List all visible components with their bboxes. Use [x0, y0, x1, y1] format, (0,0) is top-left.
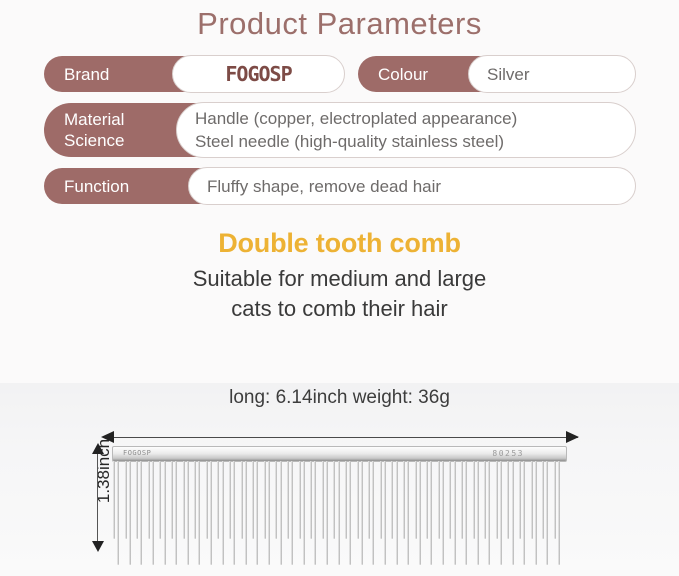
comb-tooth — [233, 461, 235, 565]
comb-tooth — [438, 461, 440, 539]
height-arrow-up-icon — [92, 443, 104, 454]
comb-tooth — [396, 461, 398, 565]
spec-row: Brand FOGOSP Colour Silver — [44, 56, 635, 92]
comb-tooth — [519, 461, 521, 539]
comb-tooth — [507, 461, 509, 539]
comb-brand-engraving: FOGOSP — [123, 449, 151, 457]
comb-product-image: FOGOSP 80253 — [112, 446, 567, 571]
spec-label-colour: Colour — [358, 56, 468, 92]
comb-tooth — [322, 461, 324, 539]
spec-pill-colour: Colour Silver — [358, 56, 635, 92]
comb-tooth — [117, 461, 119, 565]
comb-tooth — [357, 461, 359, 539]
comb-tooth — [241, 461, 243, 539]
comb-tooth — [310, 461, 312, 539]
comb-tooth — [542, 461, 544, 539]
comb-tooth — [535, 461, 537, 565]
comb-tooth — [175, 461, 177, 565]
product-photo: long: 6.14inch weight: 36g 1.38inch FOGO… — [0, 383, 679, 576]
spec-pill-brand: Brand FOGOSP — [44, 56, 344, 92]
comb-tooth — [500, 461, 502, 565]
comb-tooth — [140, 461, 142, 565]
comb-tooth — [280, 461, 282, 565]
comb-tooth — [473, 461, 475, 539]
dimension-caption: long: 6.14inch weight: 36g — [0, 387, 679, 409]
spec-value-brand: FOGOSP — [172, 55, 345, 93]
comb-tooth — [303, 461, 305, 565]
comb-tooth — [245, 461, 247, 565]
height-measure-line — [97, 451, 98, 549]
promo-subtitle-line-2: cats to comb their hair — [0, 294, 679, 324]
comb-tooth — [136, 461, 138, 539]
comb-tooth — [194, 461, 196, 539]
spec-table: Brand FOGOSP Colour Silver Material Scie… — [0, 44, 679, 204]
comb-tooth — [229, 461, 231, 539]
comb-tooth — [217, 461, 219, 539]
spec-row: Material Science Handle (copper, electro… — [44, 103, 635, 157]
comb-tooth — [125, 461, 127, 539]
spec-label-brand: Brand — [44, 56, 172, 92]
promo-subtitle-line-1: Suitable for medium and large — [0, 264, 679, 294]
comb-tooth — [256, 461, 258, 565]
comb-tooth — [113, 461, 115, 539]
comb-tooth — [419, 461, 421, 565]
comb-tooth — [415, 461, 417, 539]
comb-tooth — [291, 461, 293, 565]
comb-tooth — [430, 461, 432, 565]
comb-tooth — [349, 461, 351, 565]
comb-tooth — [326, 461, 328, 565]
height-arrow-down-icon — [92, 541, 104, 552]
comb-tooth — [198, 461, 200, 565]
comb-tooth — [531, 461, 533, 539]
comb-tooth — [206, 461, 208, 539]
comb-tooth — [407, 461, 409, 565]
comb-tooth — [314, 461, 316, 565]
comb-tooth — [183, 461, 185, 539]
page-title: Product Parameters — [0, 0, 679, 44]
comb-tooth — [299, 461, 301, 539]
comb-tooth — [484, 461, 486, 539]
comb-tooth — [523, 461, 525, 565]
comb-tooth — [384, 461, 386, 565]
comb-tooth — [338, 461, 340, 565]
spec-value-function: Fluffy shape, remove dead hair — [188, 167, 636, 205]
comb-tooth — [275, 461, 277, 539]
comb-tooth — [268, 461, 270, 565]
comb-tooth — [264, 461, 266, 539]
length-measure-line — [105, 437, 578, 438]
comb-tooth — [426, 461, 428, 539]
comb-tooth — [164, 461, 166, 565]
comb-tooth — [361, 461, 363, 565]
comb-tooth — [546, 461, 548, 565]
comb-tooth — [477, 461, 479, 565]
comb-model-engraving: 80253 — [492, 449, 524, 458]
comb-tooth — [148, 461, 150, 539]
comb-tooth — [512, 461, 514, 565]
spec-value-colour: Silver — [468, 55, 636, 93]
comb-teeth — [112, 461, 567, 571]
comb-tooth — [345, 461, 347, 539]
comb-tooth — [171, 461, 173, 539]
comb-tooth — [449, 461, 451, 539]
comb-tooth — [554, 461, 556, 539]
spec-label-function: Function — [44, 168, 188, 204]
comb-tooth — [159, 461, 161, 539]
comb-tooth — [287, 461, 289, 539]
comb-tooth — [152, 461, 154, 565]
comb-tooth — [129, 461, 131, 565]
material-line-1: Handle (copper, electroplated appearance… — [195, 107, 617, 130]
comb-tooth — [380, 461, 382, 539]
comb-tooth — [442, 461, 444, 565]
comb-tooth — [465, 461, 467, 565]
comb-spine: FOGOSP 80253 — [112, 446, 567, 462]
comb-tooth — [488, 461, 490, 565]
comb-tooth — [461, 461, 463, 539]
comb-tooth — [496, 461, 498, 539]
comb-tooth — [403, 461, 405, 539]
comb-tooth — [210, 461, 212, 565]
spec-row: Function Fluffy shape, remove dead hair — [44, 168, 635, 204]
material-line-2: Steel needle (high-quality stainless ste… — [195, 130, 617, 153]
comb-tooth — [454, 461, 456, 565]
length-arrow-right-icon — [566, 431, 579, 443]
spec-value-material-science: Handle (copper, electroplated appearance… — [176, 102, 636, 158]
spec-pill-function: Function Fluffy shape, remove dead hair — [44, 168, 635, 204]
promo-title: Double tooth comb — [0, 226, 679, 260]
promo-block: Double tooth comb Suitable for medium an… — [0, 226, 679, 324]
promo-subtitle: Suitable for medium and large cats to co… — [0, 264, 679, 324]
spec-label-material-science: Material Science — [44, 103, 176, 157]
comb-tooth — [222, 461, 224, 565]
comb-tooth — [558, 461, 560, 565]
comb-tooth — [187, 461, 189, 565]
comb-tooth — [391, 461, 393, 539]
comb-tooth — [252, 461, 254, 539]
comb-tooth — [368, 461, 370, 539]
comb-tooth — [333, 461, 335, 539]
comb-tooth — [372, 461, 374, 565]
spec-pill-material-science: Material Science Handle (copper, electro… — [44, 103, 635, 157]
